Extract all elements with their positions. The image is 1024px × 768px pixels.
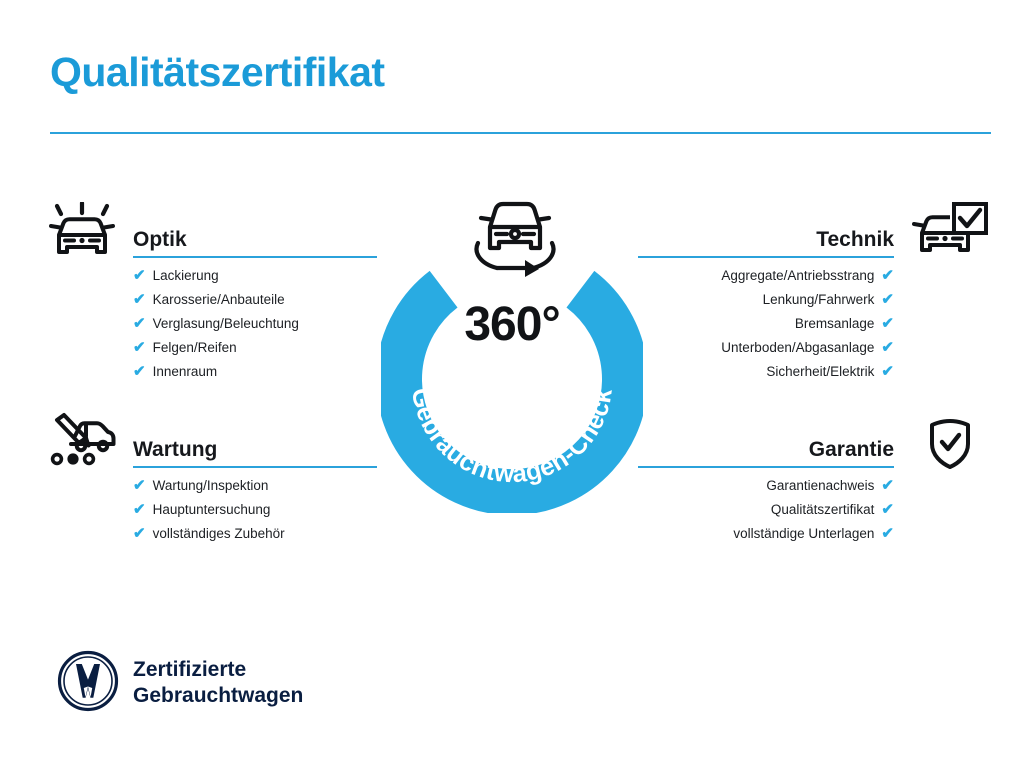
car-shine-icon bbox=[45, 202, 121, 264]
section-wartung-header: Wartung bbox=[45, 412, 385, 474]
list-item-label: Hauptuntersuchung bbox=[153, 498, 271, 522]
section-optik: Optik ✔Lackierung ✔Karosserie/Anbauteile… bbox=[45, 202, 385, 384]
check-icon: ✔ bbox=[133, 474, 146, 498]
checklist-garantie: Garantienachweis✔ Qualitätszertifikat✔ v… bbox=[638, 474, 894, 546]
list-item: Qualitätszertifikat✔ bbox=[638, 498, 894, 522]
volkswagen-logo bbox=[57, 650, 119, 712]
section-wartung-divider bbox=[133, 466, 377, 468]
list-item-label: Garantienachweis bbox=[766, 474, 874, 498]
list-item: ✔vollständiges Zubehör bbox=[133, 522, 385, 546]
check-icon: ✔ bbox=[881, 312, 894, 336]
section-technik-header: Technik bbox=[638, 202, 990, 264]
list-item-label: Lenkung/Fahrwerk bbox=[763, 288, 875, 312]
list-item: Aggregate/Antriebsstrang✔ bbox=[638, 264, 894, 288]
badge-360-gebrauchtwagen-check: Gebrauchtwagen-Check 360° bbox=[381, 193, 651, 513]
list-item: Sicherheit/Elektrik✔ bbox=[638, 360, 894, 384]
list-item: ✔Innenraum bbox=[133, 360, 385, 384]
check-icon: ✔ bbox=[133, 498, 146, 522]
shield-check-icon bbox=[910, 412, 990, 474]
check-icon: ✔ bbox=[133, 312, 146, 336]
check-icon: ✔ bbox=[881, 474, 894, 498]
check-icon: ✔ bbox=[133, 336, 146, 360]
check-icon: ✔ bbox=[881, 288, 894, 312]
car-rotation-icon bbox=[467, 193, 563, 281]
list-item-label: vollständige Unterlagen bbox=[733, 522, 874, 546]
list-item: ✔Lackierung bbox=[133, 264, 385, 288]
title-divider bbox=[50, 132, 991, 134]
list-item: Bremsanlage✔ bbox=[638, 312, 894, 336]
list-item-label: Innenraum bbox=[153, 360, 218, 384]
check-icon: ✔ bbox=[881, 522, 894, 546]
section-optik-header: Optik bbox=[45, 202, 385, 264]
list-item-label: Aggregate/Antriebsstrang bbox=[721, 264, 874, 288]
car-checkbox-icon bbox=[910, 202, 990, 264]
check-icon: ✔ bbox=[881, 498, 894, 522]
check-icon: ✔ bbox=[133, 360, 146, 384]
list-item-label: Qualitätszertifikat bbox=[771, 498, 875, 522]
list-item-label: Verglasung/Beleuchtung bbox=[153, 312, 299, 336]
pencil-car-service-icon bbox=[45, 412, 121, 474]
list-item: vollständige Unterlagen✔ bbox=[638, 522, 894, 546]
section-optik-divider bbox=[133, 256, 377, 258]
list-item: ✔Verglasung/Beleuchtung bbox=[133, 312, 385, 336]
list-item: Unterboden/Abgasanlage✔ bbox=[638, 336, 894, 360]
list-item-label: Sicherheit/Elektrik bbox=[766, 360, 874, 384]
section-garantie: Garantie Garantienachweis✔ Qualitätszert… bbox=[638, 412, 990, 546]
list-item-label: Felgen/Reifen bbox=[153, 336, 237, 360]
list-item-label: Karosserie/Anbauteile bbox=[153, 288, 285, 312]
section-optik-title: Optik bbox=[133, 229, 187, 250]
section-technik-title: Technik bbox=[816, 229, 894, 250]
section-garantie-divider bbox=[638, 466, 894, 468]
check-icon: ✔ bbox=[133, 264, 146, 288]
checklist-optik: ✔Lackierung ✔Karosserie/Anbauteile ✔Verg… bbox=[133, 264, 385, 384]
check-icon: ✔ bbox=[881, 336, 894, 360]
list-item: ✔Felgen/Reifen bbox=[133, 336, 385, 360]
list-item-label: vollständiges Zubehör bbox=[153, 522, 285, 546]
checklist-technik: Aggregate/Antriebsstrang✔ Lenkung/Fahrwe… bbox=[638, 264, 894, 384]
page-title: Qualitätszertifikat bbox=[50, 52, 385, 93]
list-item-label: Bremsanlage bbox=[795, 312, 875, 336]
list-item: ✔Karosserie/Anbauteile bbox=[133, 288, 385, 312]
list-item: ✔Hauptuntersuchung bbox=[133, 498, 385, 522]
list-item-label: Lackierung bbox=[153, 264, 219, 288]
check-icon: ✔ bbox=[133, 522, 146, 546]
list-item: Lenkung/Fahrwerk✔ bbox=[638, 288, 894, 312]
footer-brand-text: Zertifizierte Gebrauchtwagen bbox=[133, 657, 303, 709]
footer-line-2: Gebrauchtwagen bbox=[133, 683, 303, 709]
section-wartung: Wartung ✔Wartung/Inspektion ✔Hauptunters… bbox=[45, 412, 385, 546]
check-icon: ✔ bbox=[133, 288, 146, 312]
checklist-wartung: ✔Wartung/Inspektion ✔Hauptuntersuchung ✔… bbox=[133, 474, 385, 546]
section-technik-divider bbox=[638, 256, 894, 258]
section-garantie-header: Garantie bbox=[638, 412, 990, 474]
check-icon: ✔ bbox=[881, 360, 894, 384]
list-item-label: Unterboden/Abgasanlage bbox=[721, 336, 874, 360]
section-wartung-title: Wartung bbox=[133, 439, 217, 460]
footer-line-1: Zertifizierte bbox=[133, 657, 303, 683]
list-item: ✔Wartung/Inspektion bbox=[133, 474, 385, 498]
list-item-label: Wartung/Inspektion bbox=[153, 474, 269, 498]
section-technik: Technik Aggregate/Antriebsstrang✔ Lenkun… bbox=[638, 202, 990, 384]
section-garantie-title: Garantie bbox=[809, 439, 894, 460]
check-icon: ✔ bbox=[881, 264, 894, 288]
list-item: Garantienachweis✔ bbox=[638, 474, 894, 498]
